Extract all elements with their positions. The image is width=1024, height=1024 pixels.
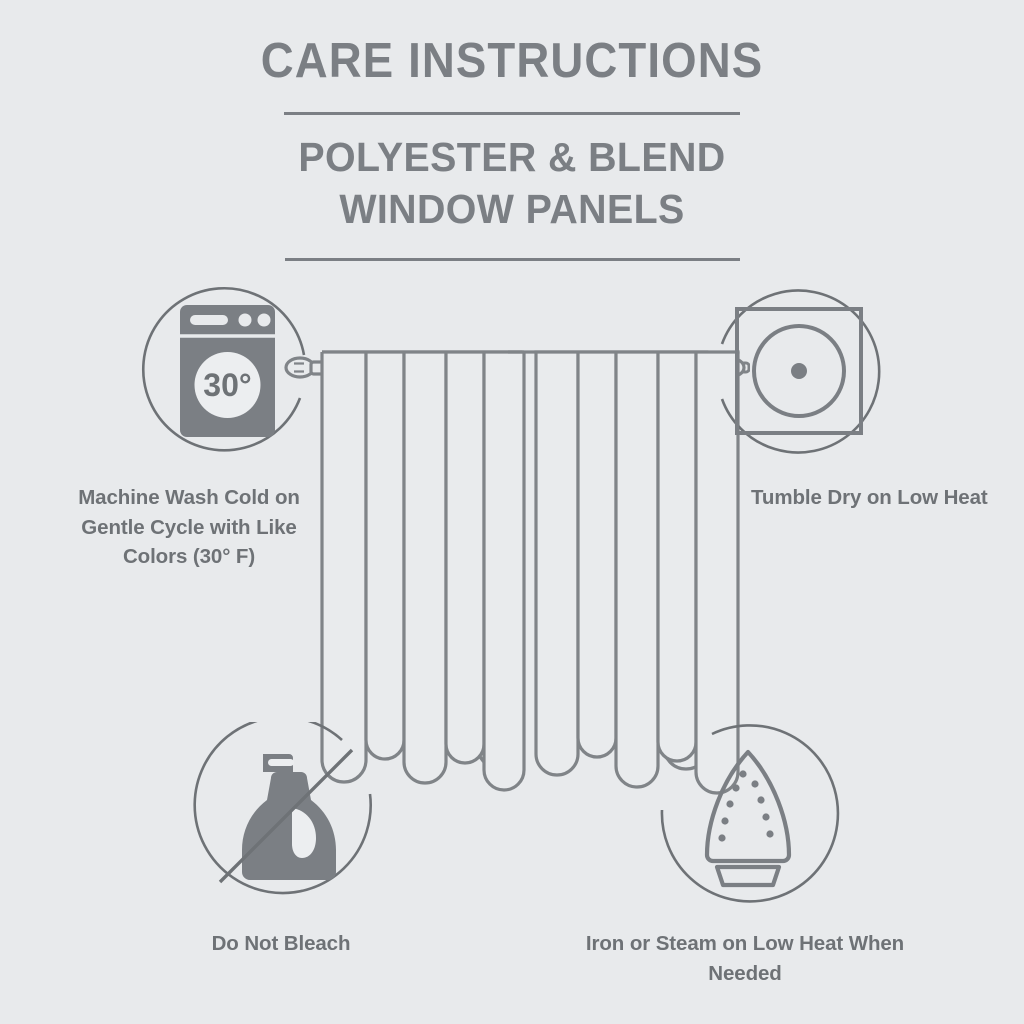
tumble-dry-symbol [700,272,898,470]
page-title: CARE INSTRUCTIONS [36,0,988,88]
no-bleach-icon [220,750,352,882]
wash-temperature-badge: 30° [203,367,251,403]
caption-iron: Iron or Steam on Low Heat When Needed [555,929,935,988]
caption-do-not-bleach: Do Not Bleach [167,929,395,959]
do-not-bleach-symbol [192,722,384,914]
header: CARE INSTRUCTIONS POLYESTER & BLEND WIND… [0,0,1024,261]
subtitle-line-2: WINDOW PANELS [20,183,1003,235]
tumble-dry-icon [737,309,861,433]
machine-wash-symbol: 30° [128,272,326,470]
iron-icon [707,752,789,885]
divider-bottom [285,258,740,261]
subtitle-line-1: POLYESTER & BLEND [20,131,1003,183]
iron-symbol [650,722,846,918]
washing-machine-icon: 30° [180,305,275,437]
infographic-canvas: CARE INSTRUCTIONS POLYESTER & BLEND WIND… [0,0,1024,1024]
subtitle: POLYESTER & BLEND WINDOW PANELS [20,115,1003,236]
caption-machine-wash: Machine Wash Cold on Gentle Cycle with L… [74,483,304,572]
caption-tumble-dry: Tumble Dry on Low Heat [751,483,1001,513]
